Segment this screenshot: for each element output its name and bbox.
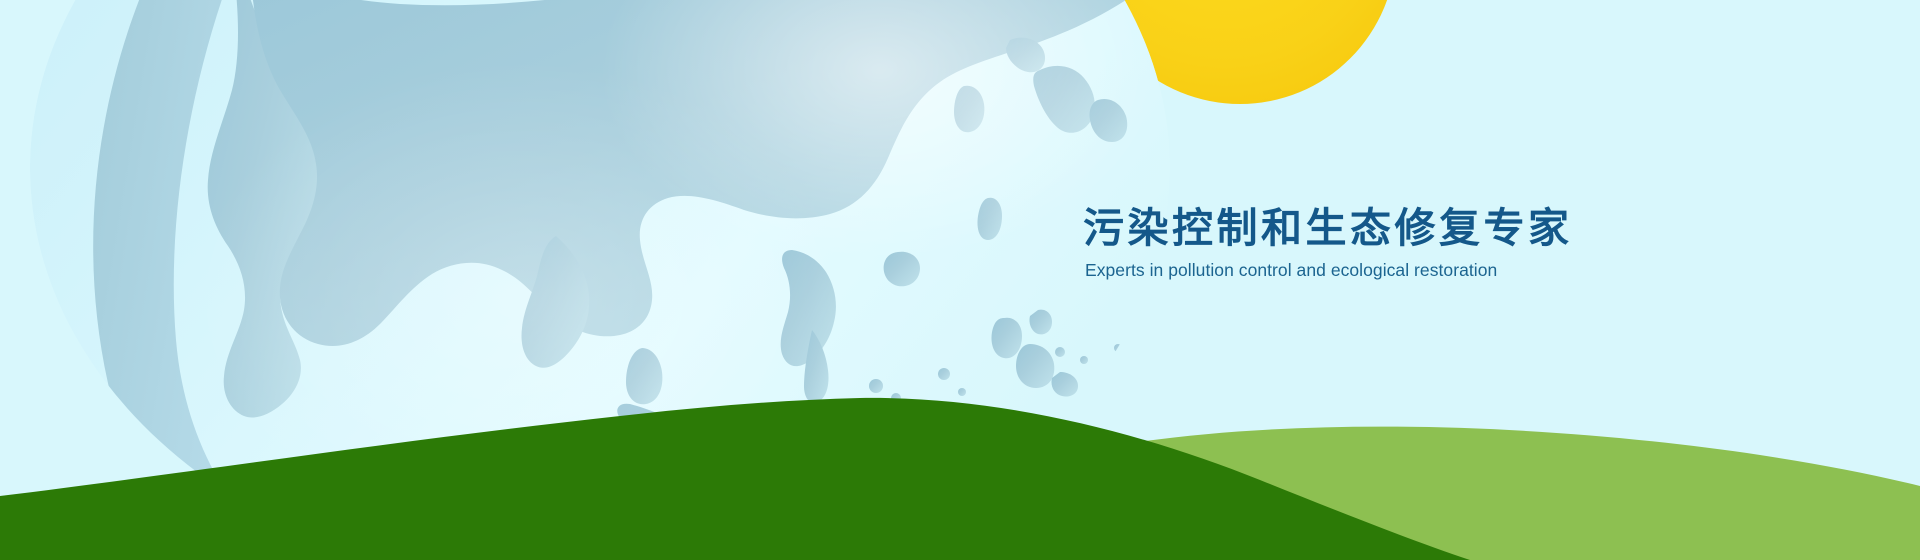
- page-title-cn: 污染控制和生态修复专家: [1083, 206, 1643, 252]
- headline-group: 污染控制和生态修复专家 Experts in pollution control…: [1083, 206, 1643, 281]
- page-subtitle-en: Experts in pollution control and ecologi…: [1085, 260, 1643, 281]
- hero-banner: 污染控制和生态修复专家 Experts in pollution control…: [0, 0, 1920, 560]
- dark-green-hill: [0, 398, 1470, 560]
